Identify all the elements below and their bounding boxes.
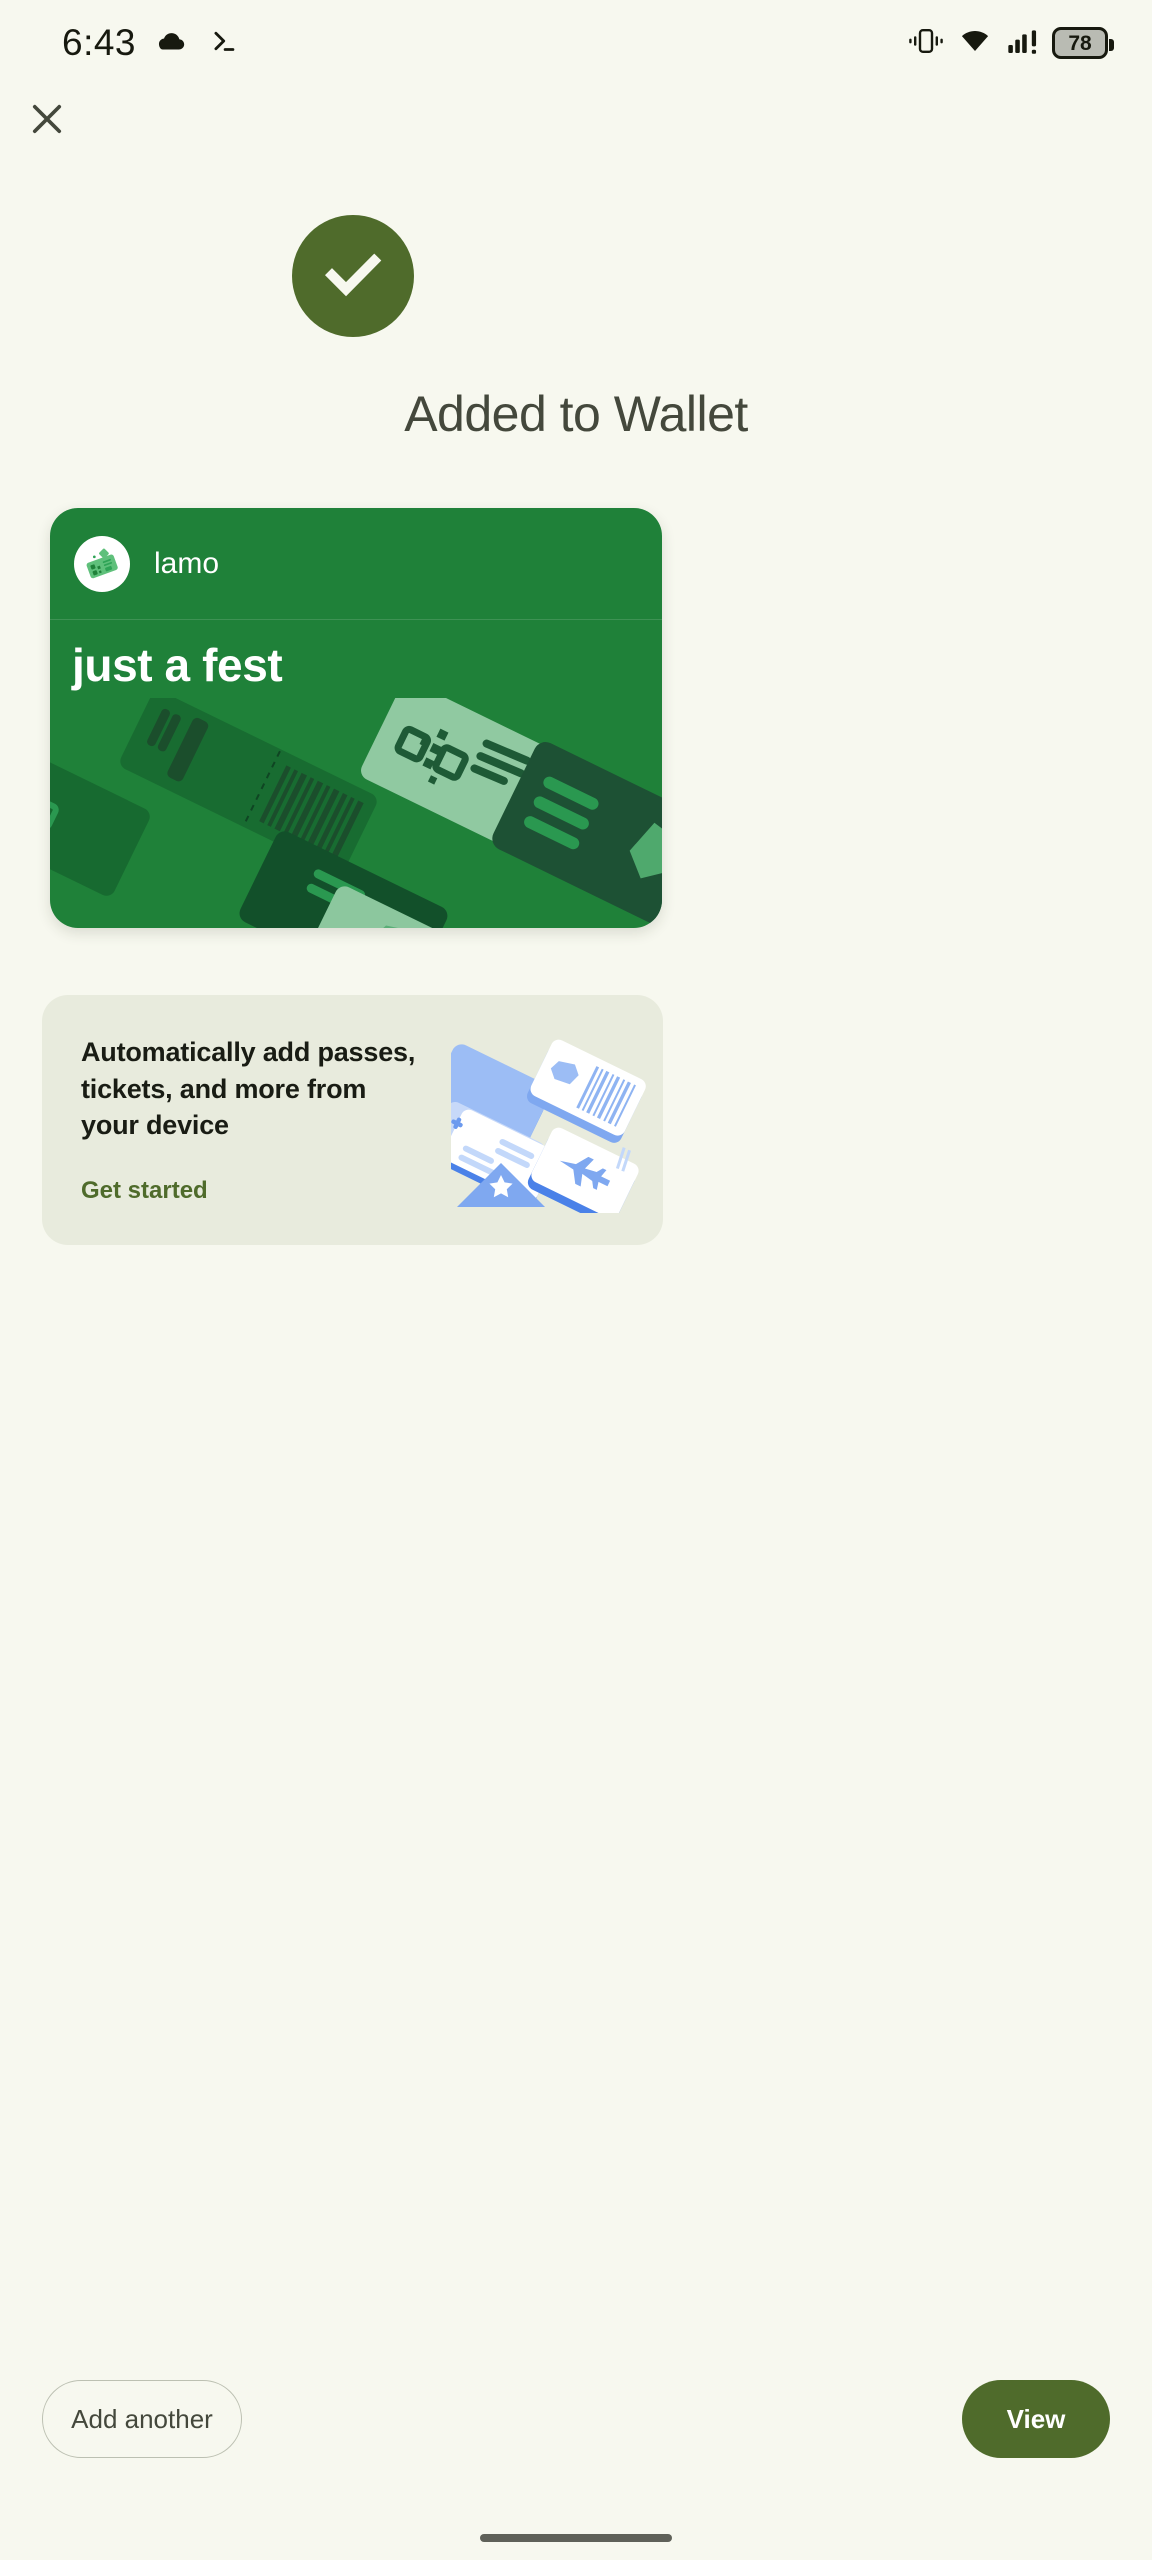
isometric-passes-illustration bbox=[50, 698, 662, 928]
pass-issuer-name: lamo bbox=[154, 547, 219, 581]
pass-title: just a fest bbox=[72, 638, 282, 692]
vibrate-icon bbox=[908, 25, 944, 62]
wifi-icon bbox=[956, 25, 994, 62]
check-icon bbox=[318, 239, 388, 314]
ticket-pass-logo-icon bbox=[74, 536, 130, 592]
pass-card-header: lamo bbox=[50, 508, 662, 620]
terminal-icon bbox=[206, 24, 240, 63]
bottom-action-bar: Add another View bbox=[0, 2380, 1152, 2490]
home-indicator[interactable] bbox=[480, 2534, 672, 2542]
status-bar-right: 78 bbox=[908, 25, 1108, 62]
status-bar: 6:43 bbox=[0, 0, 1152, 86]
wallet-added-screen: 6:43 bbox=[0, 0, 1152, 2560]
success-check-badge bbox=[292, 215, 414, 337]
add-another-button[interactable]: Add another bbox=[42, 2380, 242, 2458]
close-icon bbox=[26, 98, 68, 145]
close-button[interactable] bbox=[18, 92, 76, 150]
battery-icon: 78 bbox=[1052, 27, 1108, 59]
promo-headline: Automatically add passes, tickets, and m… bbox=[81, 1034, 421, 1144]
cloud-icon bbox=[154, 24, 188, 63]
battery-level-label: 78 bbox=[1068, 33, 1091, 54]
page-title: Added to Wallet bbox=[0, 385, 1152, 443]
status-bar-left: 6:43 bbox=[62, 22, 240, 64]
cellular-signal-icon bbox=[1006, 25, 1040, 62]
status-bar-clock: 6:43 bbox=[62, 22, 136, 64]
isometric-blue-passes-illustration bbox=[451, 1033, 651, 1213]
get-started-link[interactable]: Get started bbox=[81, 1177, 208, 1205]
promo-card[interactable]: Automatically add passes, tickets, and m… bbox=[42, 995, 663, 1245]
pass-card[interactable]: lamo just a fest bbox=[50, 508, 662, 928]
view-button[interactable]: View bbox=[962, 2380, 1110, 2458]
